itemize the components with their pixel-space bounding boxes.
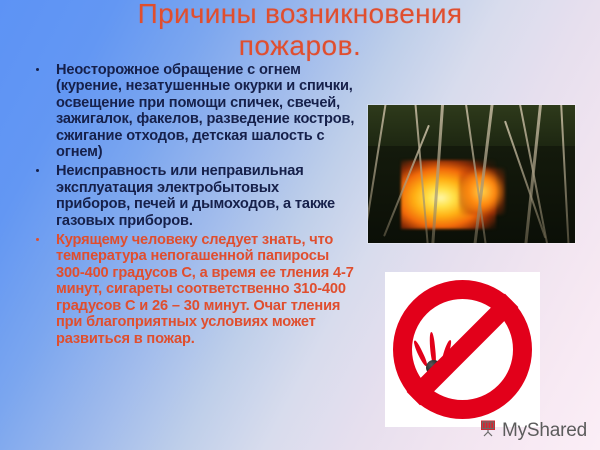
slide-title: Причины возникновения пожаров. [30,0,570,62]
bullet-marker-icon [36,169,39,172]
myshared-easel-icon [478,418,498,443]
watermark: MyShared [478,418,587,443]
fire-in-dry-grass-photo [368,105,575,243]
bullet-item-1-text: Неосторожное обращение с огнем (курение,… [56,62,354,160]
bullet-list: Неосторожное обращение с огнем (курение,… [24,62,356,350]
presentation-slide: Причины возникновения пожаров. Неосторож… [0,0,600,450]
slide-title-line-1: Причины возникновения [30,0,570,30]
bullet-item-2: Неисправность или неправильная эксплуата… [24,163,356,229]
bullet-item-3-text: Курящему человеку следует знать, что тем… [56,232,354,346]
bullet-marker-icon [36,68,39,71]
bullet-item-3: Курящему человеку следует знать, что тем… [24,232,356,347]
slide-title-line-2: пожаров. [30,30,570,62]
watermark-label: MyShared [502,421,587,440]
bullet-item-2-text: Неисправность или неправильная эксплуата… [56,163,335,228]
bullet-marker-icon [36,238,39,241]
no-open-flame-sign [385,272,540,427]
bullet-item-1: Неосторожное обращение с огнем (курение,… [24,62,356,160]
